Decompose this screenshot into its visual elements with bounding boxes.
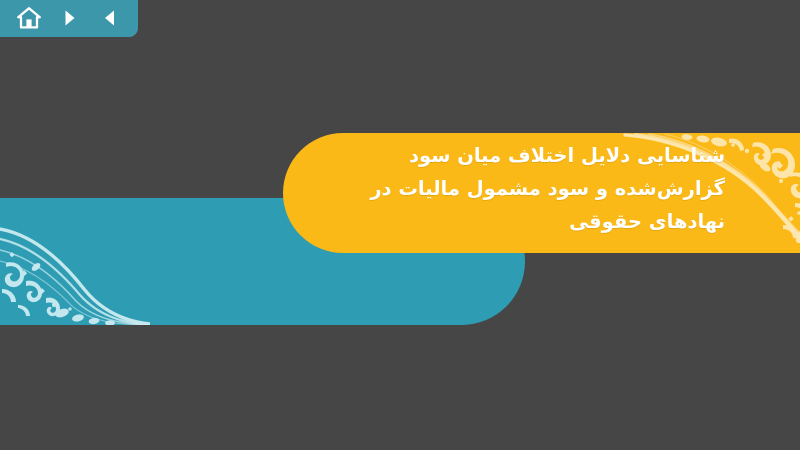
forward-button[interactable] (54, 4, 84, 32)
title-panel: شناسایی دلایل اختلاف میان سود گزارش‌شده … (283, 133, 800, 253)
title-line-2: گزارش‌شده و سود مشمول مالیات در (385, 172, 725, 205)
forward-arrow-icon (61, 9, 78, 27)
navigation-bar (0, 0, 138, 37)
arabesque-ornament (0, 205, 150, 325)
title-line-1: شناسایی دلایل اختلاف میان سود (385, 139, 725, 172)
title-line-3: نهادهای حقوقی (385, 205, 725, 238)
home-icon (17, 7, 41, 29)
home-button[interactable] (14, 4, 44, 32)
back-button[interactable] (94, 4, 124, 32)
back-arrow-icon (101, 9, 118, 27)
slide-title: شناسایی دلایل اختلاف میان سود گزارش‌شده … (385, 139, 725, 238)
slide-canvas: شناسایی دلایل اختلاف میان سود گزارش‌شده … (0, 0, 800, 450)
